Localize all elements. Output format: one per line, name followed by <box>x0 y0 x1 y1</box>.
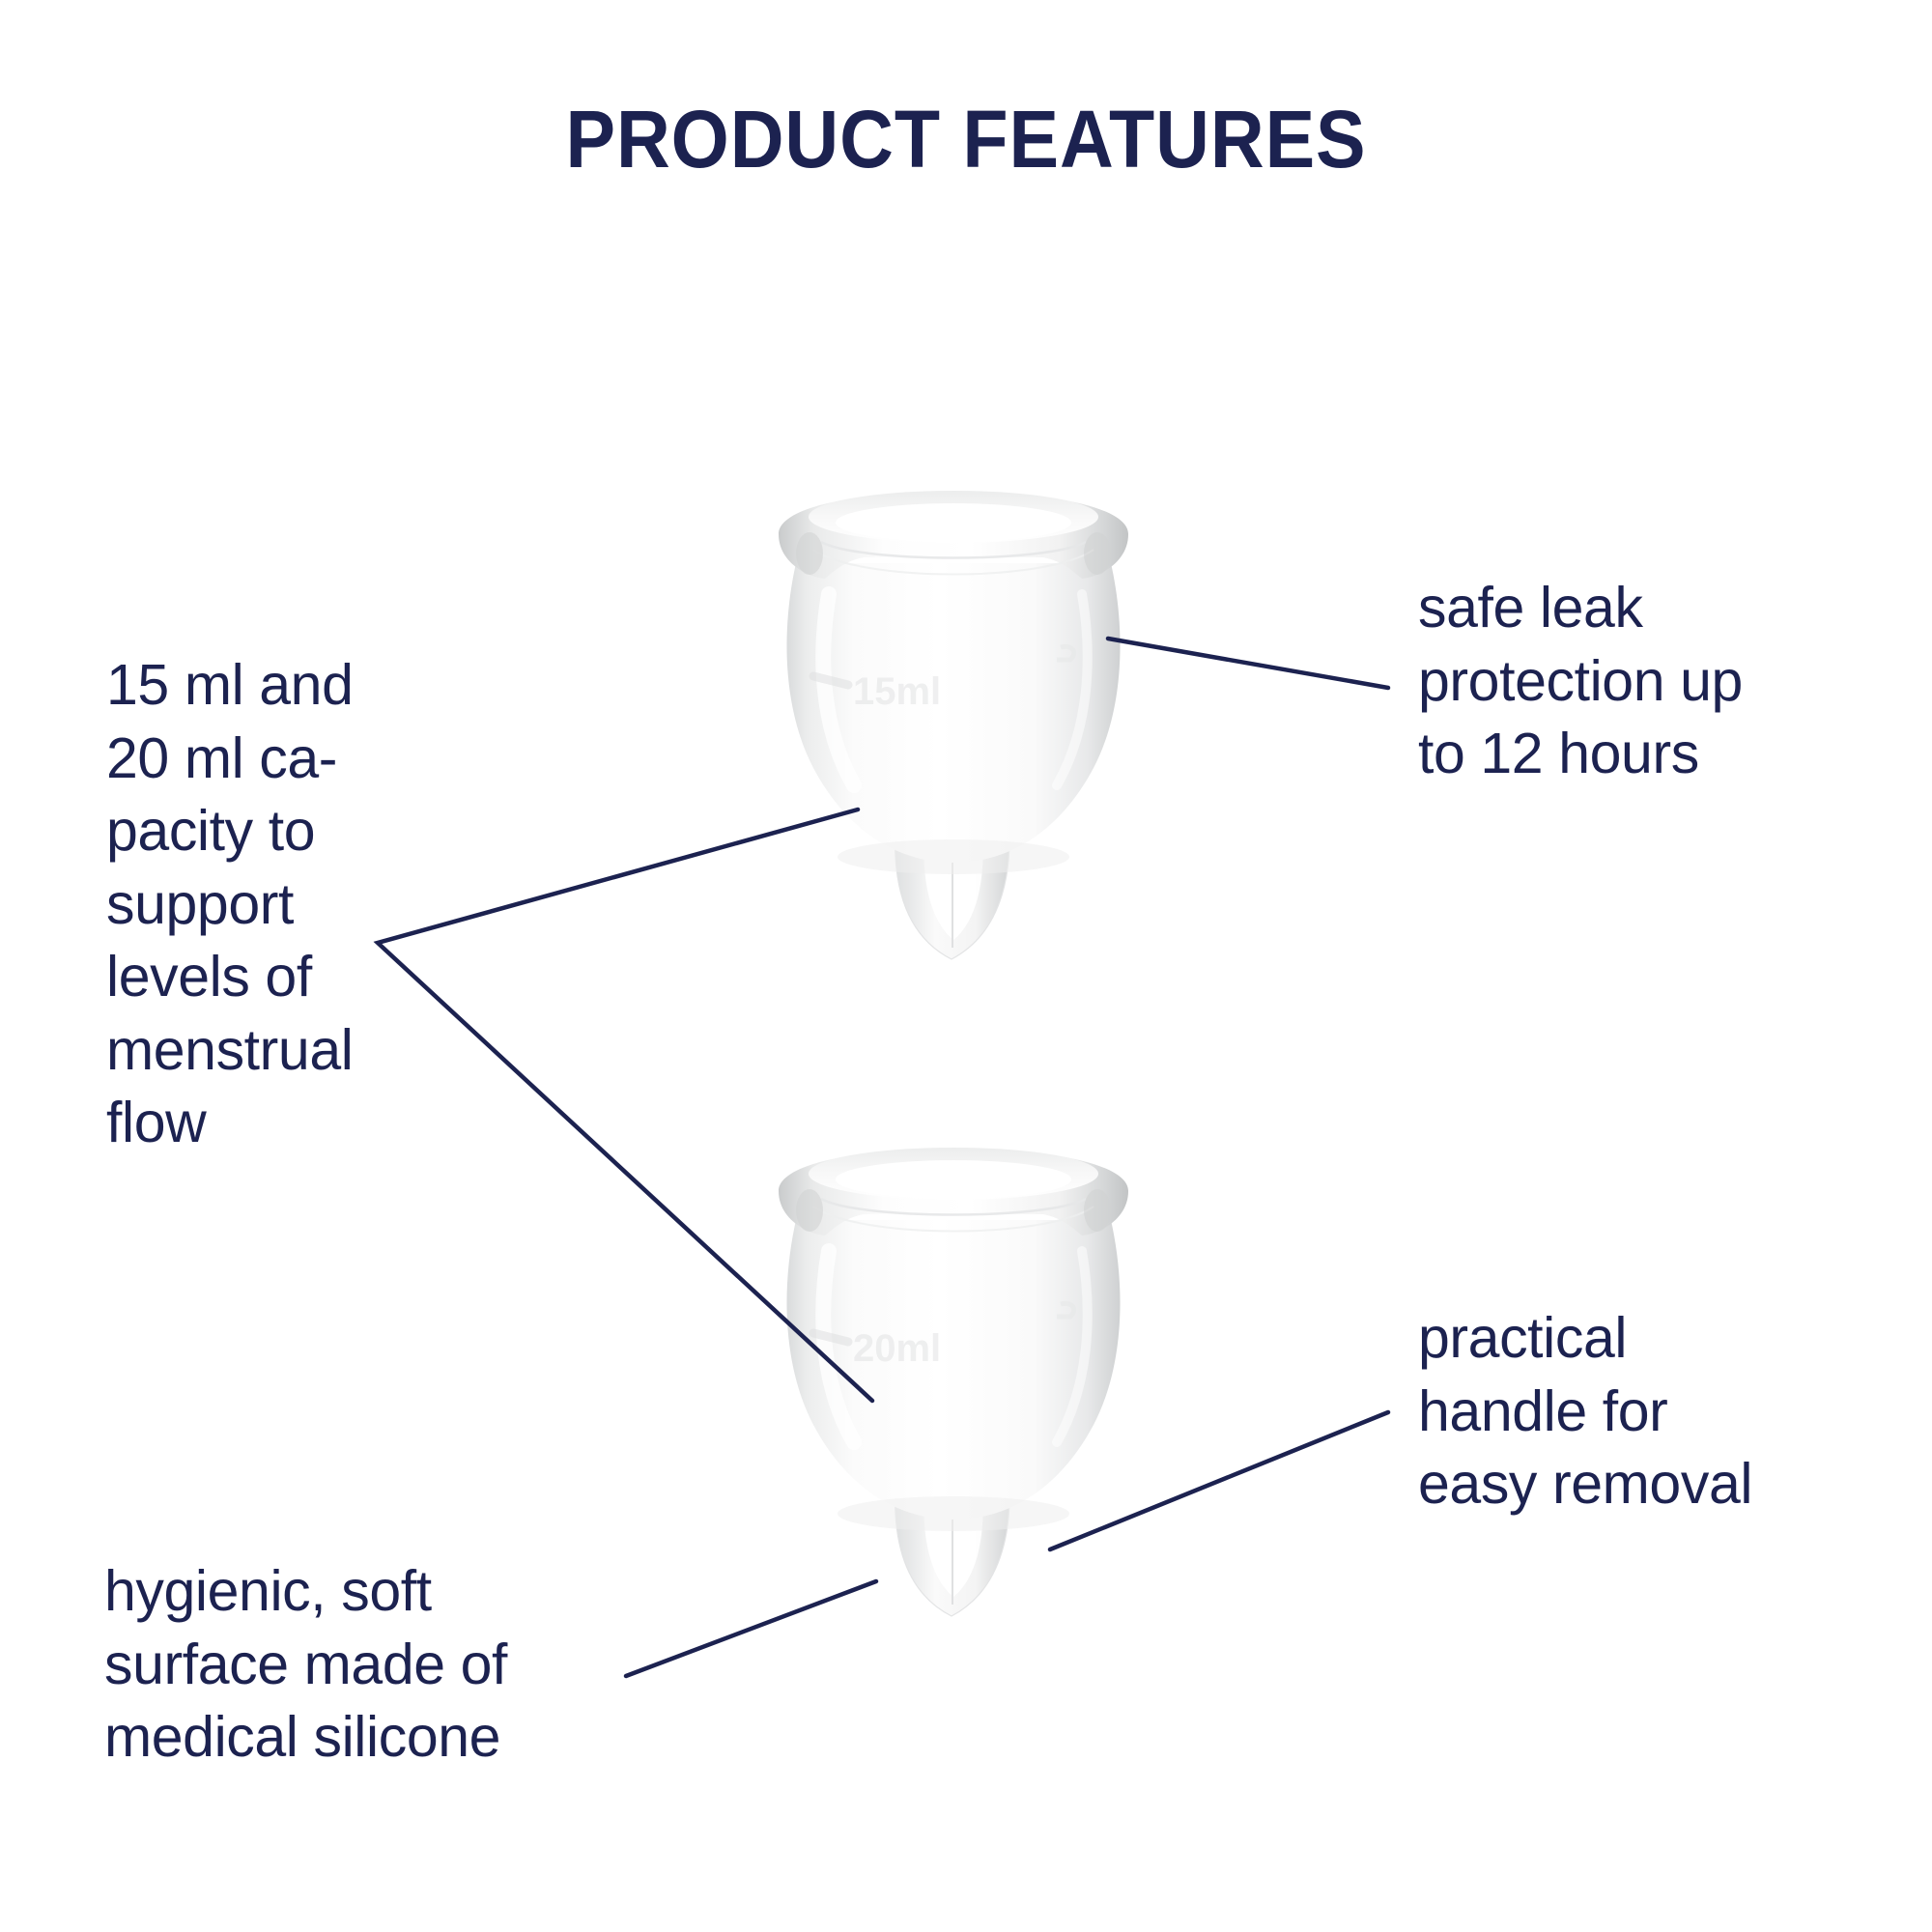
svg-text:15ml: 15ml <box>853 670 941 713</box>
page-title: PRODUCT FEATURES <box>77 93 1855 186</box>
callout-silicone-text: hygienic, soft surface made of medical s… <box>104 1555 645 1775</box>
callout-capacity-text: 15 ml and 20 ml ca- pacity to support le… <box>106 649 473 1160</box>
svg-text:20ml: 20ml <box>853 1327 941 1370</box>
callout-leak-protection-text: safe leak protection up to 12 hours <box>1418 572 1872 791</box>
product-features-infographic: PRODUCT FEATURES <box>0 0 1932 1932</box>
product-image-cup-20ml: 20ml <box>753 1135 1169 1715</box>
cup-body <box>786 1220 1120 1520</box>
product-image-cup-15ml: 15ml <box>753 478 1169 1058</box>
cup-body <box>786 563 1120 863</box>
callout-handle-text: practical handle for easy removal <box>1418 1302 1872 1521</box>
